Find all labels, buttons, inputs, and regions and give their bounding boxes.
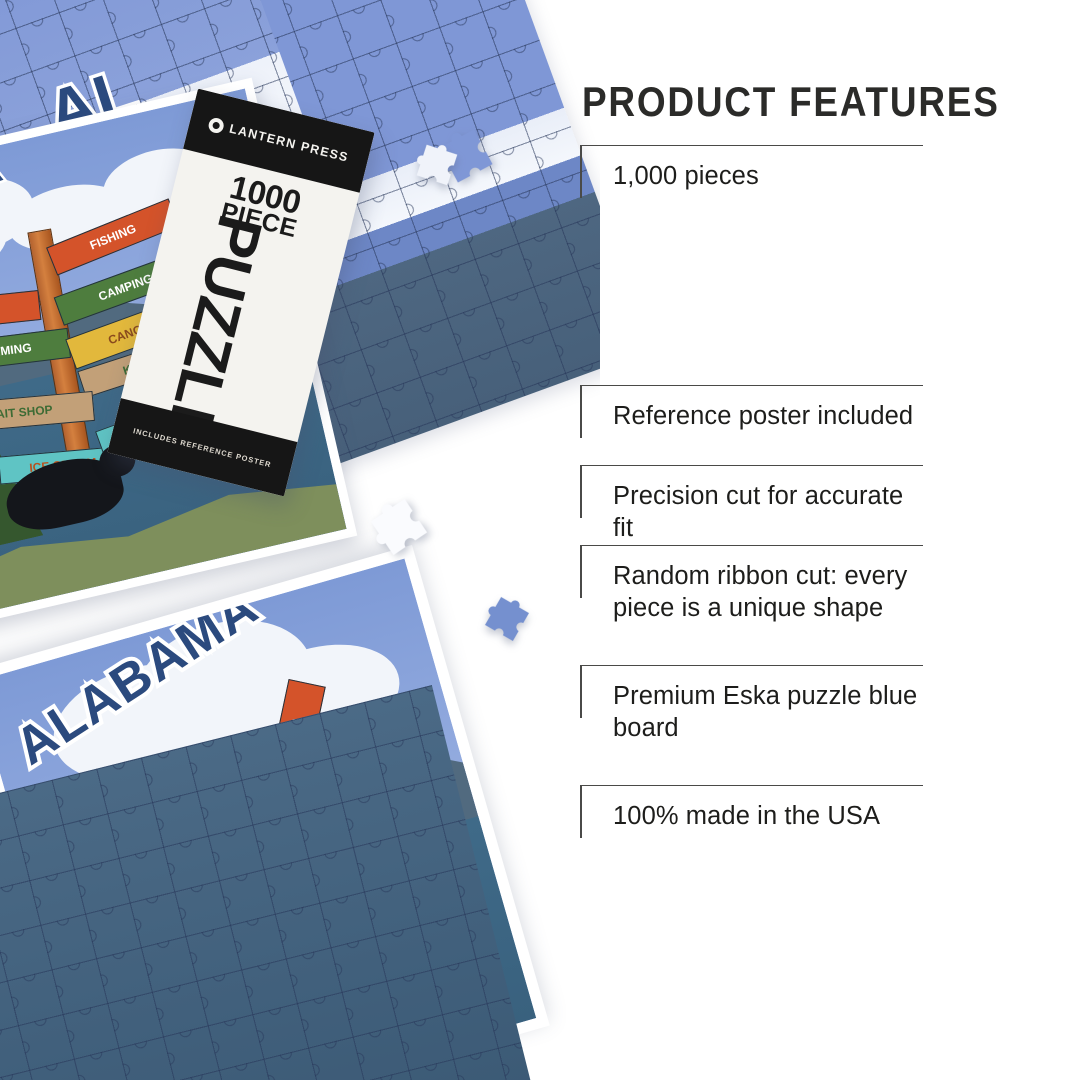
loose-piece-9 <box>476 588 539 651</box>
box-reference-note: INCLUDES REFERENCE POSTER <box>132 426 272 469</box>
feature-item-label: 100% made in the USA <box>613 800 923 832</box>
product-photo: AL ALABAMA FISHING LAKE CAMPING SWIMMING <box>0 0 600 1080</box>
feature-item-reference-poster: Reference poster included <box>580 385 923 432</box>
feature-item-eska-board: Premium Eska puzzle blue board <box>580 665 923 744</box>
feature-item-made-in-usa: 100% made in the USA <box>580 785 923 832</box>
page-title: PRODUCT FEATURES <box>582 78 1000 126</box>
feature-item-precision-cut: Precision cut for accurate fit <box>580 465 923 544</box>
feature-item-label: 1,000 pieces <box>613 160 923 192</box>
feature-item-label: Reference poster included <box>613 400 923 432</box>
box-brand-name: LANTERN PRESS <box>228 122 350 165</box>
feature-item-label: Random ribbon cut: every piece is a uniq… <box>613 560 923 624</box>
loose-piece-8 <box>359 487 440 568</box>
feature-item-pieces-count: 1,000 pieces <box>580 145 923 192</box>
feature-item-ribbon-cut: Random ribbon cut: every piece is a uniq… <box>580 545 923 624</box>
feature-item-label: Precision cut for accurate fit <box>613 480 923 544</box>
product-features-panel: PRODUCT FEATURES 1,000 piecesReference p… <box>575 0 1080 1080</box>
feature-item-label: Premium Eska puzzle blue board <box>613 680 923 744</box>
lantern-press-logo-icon <box>207 116 225 134</box>
